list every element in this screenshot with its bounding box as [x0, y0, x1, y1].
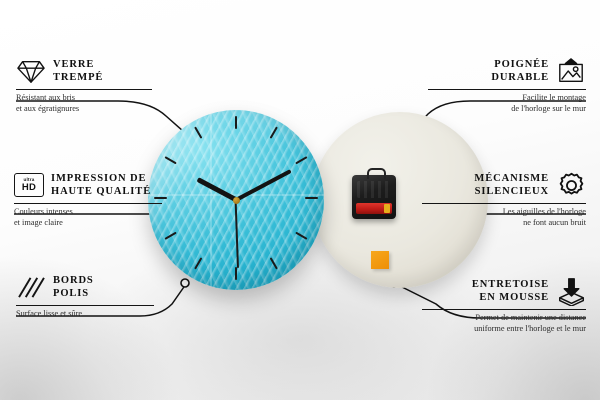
- feature-rule: [16, 305, 154, 306]
- feature-rule: [428, 89, 586, 90]
- feature-title: VERRE TREMPÉ: [53, 58, 103, 84]
- feature-description: Résistant aux bris et aux égratignures: [16, 93, 176, 114]
- mechanism-surface-detail: [357, 181, 391, 198]
- battery: [356, 203, 392, 214]
- diagonal-stripes-icon: [16, 272, 46, 302]
- feature-description: Les aiguilles de l'horloge ne font aucun…: [400, 207, 586, 228]
- clock-mechanism-box: [352, 175, 396, 219]
- feature-entretoise-en-mousse: ENTRETOISE EN MOUSSE Permet de maintenir…: [400, 276, 586, 334]
- clock-center-cap: [233, 197, 240, 204]
- clock-tick: [305, 197, 318, 199]
- feature-poignee-durable: POIGNÉE DURABLE Facilite le montage de l…: [406, 56, 586, 114]
- hanging-picture-frame-icon: [556, 56, 586, 86]
- feature-mecanisme-silencieux: MÉCANISME SILENCIEUX Les aiguilles de l'…: [400, 170, 586, 228]
- feature-rule: [422, 309, 586, 310]
- feature-rule: [14, 203, 162, 204]
- clock-tick: [235, 267, 237, 280]
- hd-badge-large-text: HD: [22, 183, 36, 193]
- feature-impression-haute-qualite: ultra HD IMPRESSION DE HAUTE QUALITÉ Cou…: [14, 170, 184, 228]
- feature-title: MÉCANISME SILENCIEUX: [474, 172, 549, 198]
- connector-node-bords: [181, 279, 189, 287]
- product-infographic: VERRE TREMPÉ Résistant aux bris et aux é…: [0, 0, 600, 400]
- feature-rule: [422, 203, 586, 204]
- feature-verre-trempe: VERRE TREMPÉ Résistant aux bris et aux é…: [16, 56, 176, 114]
- feature-description: Facilite le montage de l'horloge sur le …: [406, 93, 586, 114]
- feature-title: POIGNÉE DURABLE: [491, 58, 549, 84]
- feature-rule: [16, 89, 152, 90]
- mechanism-hanger-icon: [367, 168, 386, 179]
- feature-title: BORDS POLIS: [53, 274, 94, 300]
- feature-description: Couleurs intenses et image claire: [14, 207, 184, 228]
- feature-title: IMPRESSION DE HAUTE QUALITÉ: [51, 172, 151, 198]
- clock-tick: [235, 116, 237, 129]
- diamond-icon: [16, 56, 46, 86]
- ultra-hd-badge-icon: ultra HD: [14, 170, 44, 200]
- foam-spacer: [371, 251, 389, 269]
- feature-title: ENTRETOISE EN MOUSSE: [472, 278, 549, 304]
- battery-positive-terminal: [384, 204, 390, 213]
- arrow-down-foam-pad-icon: [556, 276, 586, 306]
- feature-bords-polis: BORDS POLIS Surface lisse et sûre: [16, 272, 176, 320]
- feature-description: Surface lisse et sûre: [16, 309, 176, 319]
- gear-icon: [556, 170, 586, 200]
- feature-description: Permet de maintenir une distance uniform…: [400, 313, 586, 334]
